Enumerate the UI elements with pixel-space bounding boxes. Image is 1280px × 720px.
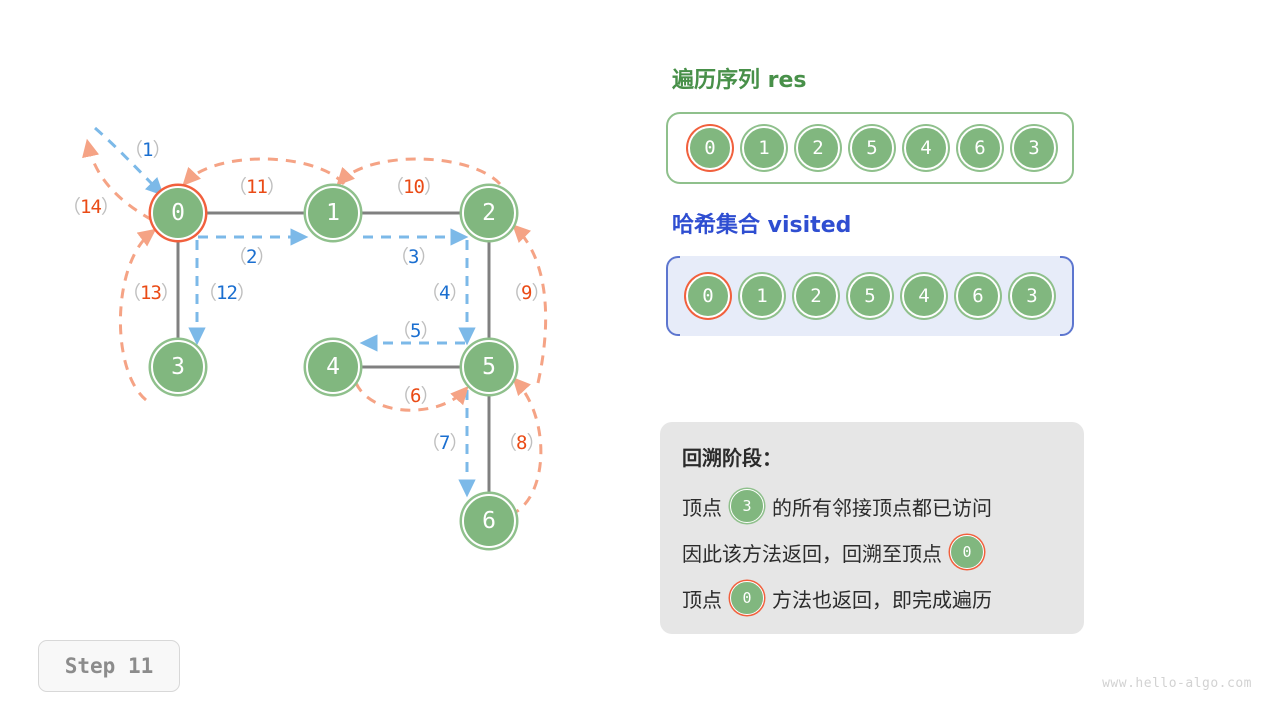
- step-label-2-num: 2: [246, 246, 256, 268]
- note-line-1-text-a: 顶点: [682, 492, 722, 521]
- step-label-12-num: 12: [216, 282, 237, 304]
- graph-node-5[interactable]: 5: [462, 340, 516, 394]
- explanation-note-box: 回溯阶段： 顶点 3 的所有邻接顶点都已访问 因此该方法返回，回溯至顶点 0 顶…: [660, 422, 1084, 634]
- graph-node-0[interactable]: 0: [151, 186, 205, 240]
- step-label-3-num: 3: [408, 246, 418, 268]
- res-item-6-label: 3: [1028, 137, 1039, 159]
- step-label-14-num: 14: [80, 196, 101, 218]
- visited-item-3-label: 5: [864, 285, 875, 307]
- graph-node-3[interactable]: 3: [151, 340, 205, 394]
- note-line-3-text-b: 方法也返回，即完成遍历: [772, 584, 992, 613]
- note-line-1-text-b: 的所有邻接顶点都已访问: [772, 492, 992, 521]
- res-item-4-label: 4: [920, 137, 931, 159]
- visited-item-2[interactable]: 2: [794, 274, 838, 318]
- visited-bracket-left-icon: [666, 256, 680, 336]
- graph-node-5-label: 5: [482, 354, 496, 380]
- note-chip-vertex-3: 3: [730, 489, 764, 523]
- res-section-title: 遍历序列 res: [672, 62, 807, 94]
- graph-node-6[interactable]: 6: [462, 494, 516, 548]
- visited-item-5-label: 6: [972, 285, 983, 307]
- step-label-13-num: 13: [140, 282, 161, 304]
- res-item-1-label: 1: [758, 137, 769, 159]
- res-item-4[interactable]: 4: [904, 126, 948, 170]
- visited-item-1-label: 1: [756, 285, 767, 307]
- note-line-1: 顶点 3 的所有邻接顶点都已访问: [682, 483, 1062, 529]
- step-label-2: （2）: [228, 242, 274, 269]
- step-label-13: （13）: [122, 278, 179, 305]
- step-label-4-num: 4: [439, 282, 449, 304]
- step-label-6-num: 6: [410, 385, 420, 407]
- step-label-8-num: 8: [516, 432, 526, 454]
- right-panel: 遍历序列 res 0 1 2 5 4 6 3 哈希集合 visited 0 1 …: [660, 0, 1280, 720]
- graph-node-1[interactable]: 1: [306, 186, 360, 240]
- res-item-3[interactable]: 5: [850, 126, 894, 170]
- visited-item-6-label: 3: [1026, 285, 1037, 307]
- note-chip-vertex-3-label: 3: [742, 497, 751, 515]
- visited-item-0-label: 0: [702, 285, 713, 307]
- res-item-0-label: 0: [704, 137, 715, 159]
- res-item-6[interactable]: 3: [1012, 126, 1056, 170]
- graph-node-4[interactable]: 4: [306, 340, 360, 394]
- graph-node-1-label: 1: [326, 200, 340, 226]
- step-label-11: （11）: [228, 172, 285, 199]
- step-label-12: （12）: [198, 278, 255, 305]
- step-label-7-num: 7: [439, 432, 449, 454]
- res-item-3-label: 5: [866, 137, 877, 159]
- note-title: 回溯阶段：: [682, 442, 1062, 471]
- visited-item-1[interactable]: 1: [740, 274, 784, 318]
- step-label-3: （3）: [390, 242, 436, 269]
- step-label-4: （4）: [421, 278, 467, 305]
- res-item-5-label: 6: [974, 137, 985, 159]
- step-label-5: （5）: [392, 316, 438, 343]
- visited-item-2-label: 2: [810, 285, 821, 307]
- slide-canvas: 0 1 2 3 4 5 6 （1） （2） （3） （4） （5） （6） （7…: [0, 0, 1280, 720]
- res-item-2[interactable]: 2: [796, 126, 840, 170]
- step-label-6: （6）: [392, 381, 438, 408]
- note-line-2: 因此该方法返回，回溯至顶点 0: [682, 529, 1062, 575]
- visited-item-6[interactable]: 3: [1010, 274, 1054, 318]
- note-chip-vertex-0-b: 0: [730, 581, 764, 615]
- visited-set-box: 0 1 2 5 4 6 3: [666, 256, 1074, 336]
- visited-item-4-label: 4: [918, 285, 929, 307]
- res-item-0[interactable]: 0: [688, 126, 732, 170]
- step-label-8: （8）: [498, 428, 544, 455]
- graph-diagram: 0 1 2 3 4 5 6 （1） （2） （3） （4） （5） （6） （7…: [0, 0, 640, 720]
- step-label-11-num: 11: [246, 176, 267, 198]
- step-label-5-num: 5: [410, 320, 420, 342]
- visited-item-4[interactable]: 4: [902, 274, 946, 318]
- res-array-box: 0 1 2 5 4 6 3: [666, 112, 1074, 184]
- step-label-10: （10）: [385, 172, 442, 199]
- step-label-9: （9）: [503, 278, 549, 305]
- graph-node-2-label: 2: [482, 200, 496, 226]
- graph-node-4-label: 4: [326, 354, 340, 380]
- orange-arrow-9: [516, 228, 546, 383]
- orange-arrow-13: [120, 232, 152, 400]
- res-item-5[interactable]: 6: [958, 126, 1002, 170]
- visited-section-title: 哈希集合 visited: [672, 207, 851, 239]
- graph-node-2[interactable]: 2: [462, 186, 516, 240]
- visited-bracket-right-icon: [1060, 256, 1074, 336]
- note-chip-vertex-0-b-label: 0: [742, 589, 751, 607]
- graph-node-6-label: 6: [482, 508, 496, 534]
- visited-item-0[interactable]: 0: [686, 274, 730, 318]
- note-chip-vertex-0-a: 0: [950, 535, 984, 569]
- watermark: www.hello-algo.com: [1102, 676, 1252, 691]
- step-label-10-num: 10: [403, 176, 424, 198]
- visited-item-3[interactable]: 5: [848, 274, 892, 318]
- res-item-1[interactable]: 1: [742, 126, 786, 170]
- note-chip-vertex-0-a-label: 0: [962, 543, 971, 561]
- step-label-9-num: 9: [521, 282, 531, 304]
- step-badge: Step 11: [38, 640, 180, 692]
- step-label-14: （14）: [62, 192, 119, 219]
- step-label-7: （7）: [421, 428, 467, 455]
- note-line-3: 顶点 0 方法也返回，即完成遍历: [682, 575, 1062, 621]
- note-line-3-text-a: 顶点: [682, 584, 722, 613]
- res-item-2-label: 2: [812, 137, 823, 159]
- step-label-1-num: 1: [142, 139, 152, 161]
- note-line-2-text-a: 因此该方法返回，回溯至顶点: [682, 538, 942, 567]
- graph-node-3-label: 3: [171, 354, 185, 380]
- visited-item-5[interactable]: 6: [956, 274, 1000, 318]
- step-label-1: （1）: [124, 135, 170, 162]
- graph-node-0-label: 0: [171, 200, 185, 226]
